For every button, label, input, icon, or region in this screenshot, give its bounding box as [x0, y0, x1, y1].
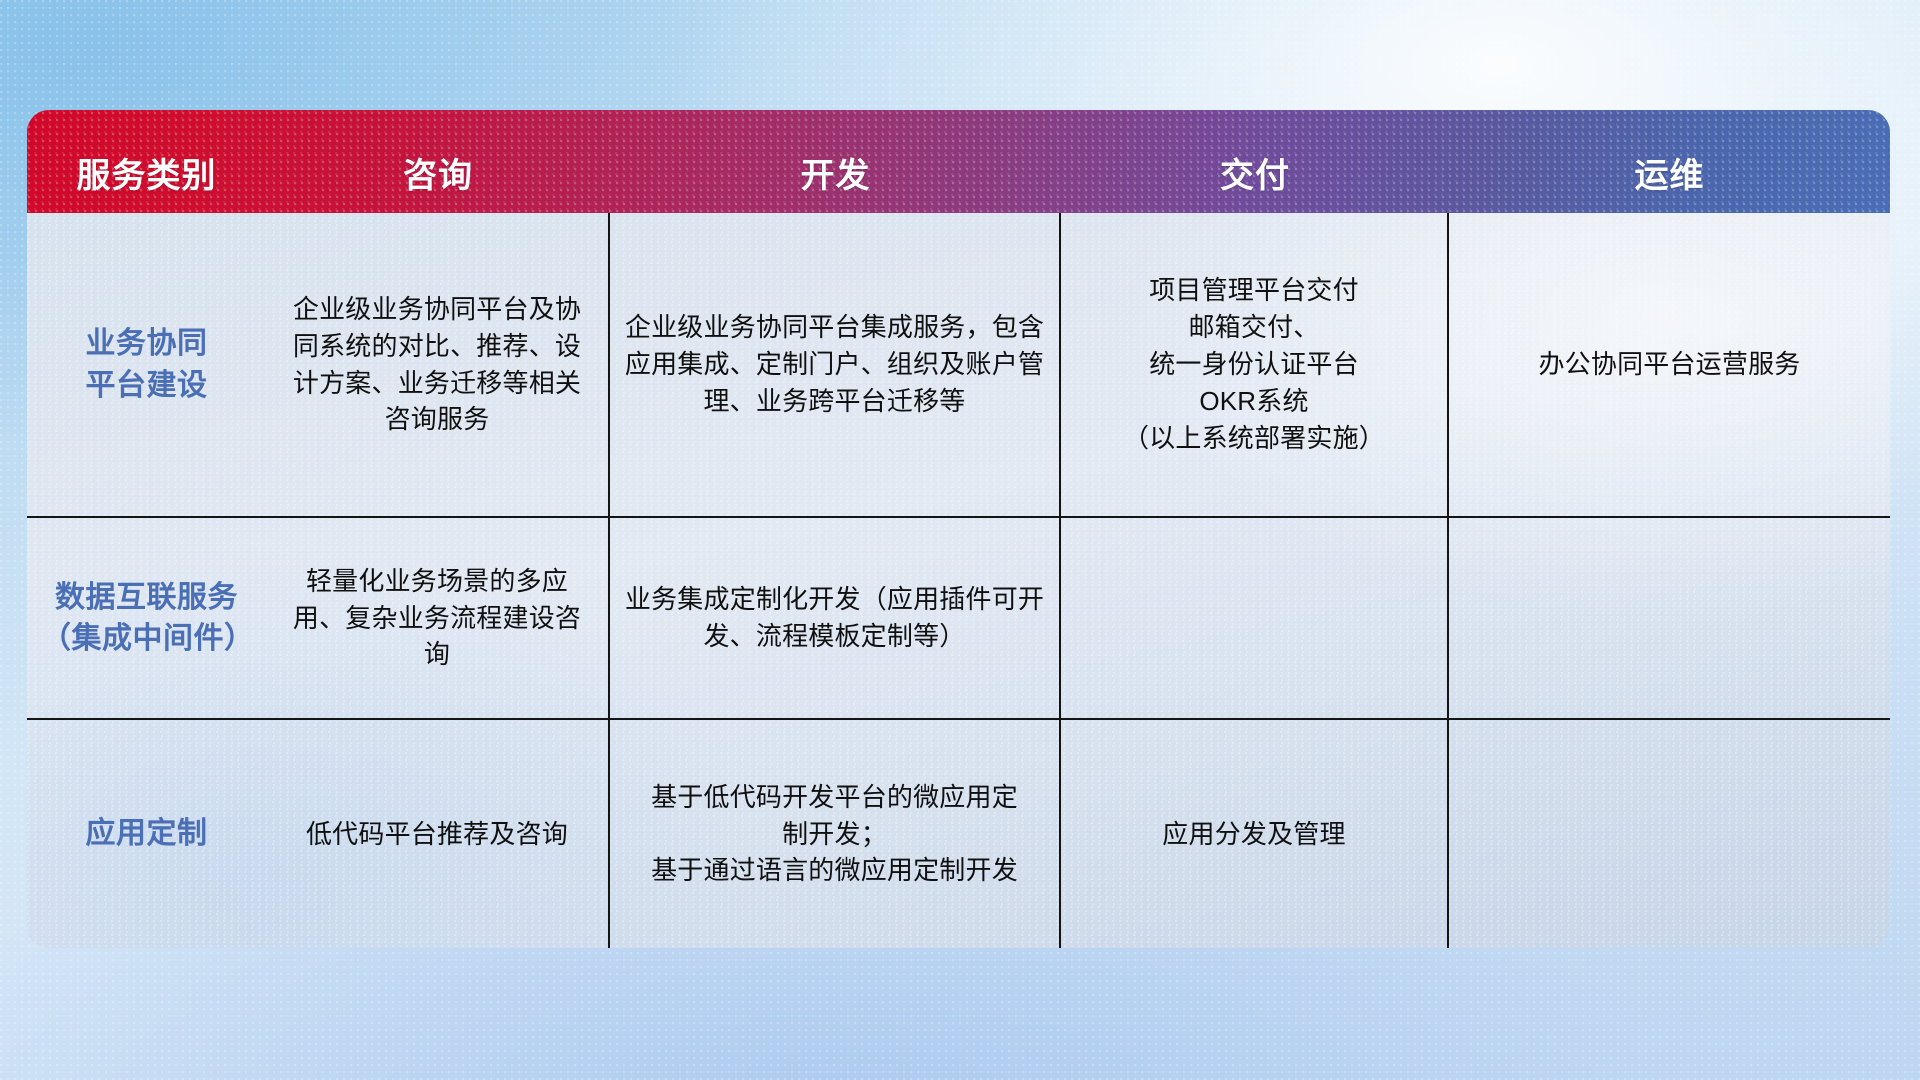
cell-development: 企业级业务协同平台集成服务，包含应用集成、定制门户、组织及账户管理、业务跨平台迁… — [610, 213, 1061, 516]
row-label-text: 数据互联服务 （集成中间件） — [41, 577, 252, 660]
cell-consulting: 轻量化业务场景的多应用、复杂业务流程建设咨询 — [266, 518, 610, 718]
column-header-operations: 运维 — [1449, 159, 1890, 213]
slide-canvas: 服务类别 咨询 开发 交付 运维 业务协同 平台建设 企业级业务协同平台及协同系… — [0, 0, 1920, 1080]
cell-text: 应用分发及管理 — [1162, 816, 1345, 853]
cell-development: 基于低代码开发平台的微应用定 制开发； 基于通过语言的微应用定制开发 — [610, 720, 1061, 948]
cell-delivery: 项目管理平台交付 邮箱交付、 统一身份认证平台 OKR系统 （以上系统部署实施） — [1061, 213, 1449, 516]
cell-consulting: 企业级业务协同平台及协同系统的对比、推荐、设计方案、业务迁移等相关咨询服务 — [266, 213, 610, 516]
cell-delivery — [1061, 518, 1449, 718]
cell-text: 项目管理平台交付 邮箱交付、 统一身份认证平台 OKR系统 （以上系统部署实施） — [1123, 272, 1385, 457]
table-header-row: 服务类别 咨询 开发 交付 运维 — [27, 110, 1890, 213]
column-header-development: 开发 — [610, 159, 1061, 213]
cell-text-line: 项目管理平台交付 — [1123, 272, 1385, 309]
cell-operations: 办公协同平台运营服务 — [1449, 213, 1890, 516]
table-body: 业务协同 平台建设 企业级业务协同平台及协同系统的对比、推荐、设计方案、业务迁移… — [27, 213, 1890, 948]
column-header-consulting: 咨询 — [266, 159, 610, 213]
column-header-delivery: 交付 — [1061, 159, 1449, 213]
cell-text: 轻量化业务场景的多应用、复杂业务流程建设咨询 — [280, 563, 594, 674]
row-label-line: 平台建设 — [86, 365, 208, 406]
table-row: 数据互联服务 （集成中间件） 轻量化业务场景的多应用、复杂业务流程建设咨询 业务… — [27, 518, 1890, 720]
table-row: 应用定制 低代码平台推荐及咨询 基于低代码开发平台的微应用定 制开发； 基于通过… — [27, 720, 1890, 948]
row-label-cell: 业务协同 平台建设 — [27, 213, 266, 516]
row-label-line: 业务协同 — [86, 323, 208, 364]
row-label-line: 应用定制 — [86, 813, 208, 854]
service-matrix-table: 服务类别 咨询 开发 交付 运维 业务协同 平台建设 企业级业务协同平台及协同系… — [27, 110, 1890, 950]
table-row: 业务协同 平台建设 企业级业务协同平台及协同系统的对比、推荐、设计方案、业务迁移… — [27, 213, 1890, 518]
row-label-line: 数据互联服务 — [41, 577, 252, 618]
cell-text: 办公协同平台运营服务 — [1538, 346, 1800, 383]
cell-text-line: 统一身份认证平台 — [1123, 346, 1385, 383]
row-label-cell: 数据互联服务 （集成中间件） — [27, 518, 266, 718]
cell-text: 低代码平台推荐及咨询 — [306, 816, 568, 853]
row-label-text: 应用定制 — [86, 813, 208, 854]
cell-operations — [1449, 720, 1890, 948]
cell-operations — [1449, 518, 1890, 718]
row-label-cell: 应用定制 — [27, 720, 266, 948]
cell-text: 业务集成定制化开发（应用插件可开发、流程模板定制等） — [624, 581, 1045, 655]
cell-text-line: 邮箱交付、 — [1123, 309, 1385, 346]
cell-text-line: OKR系统 — [1123, 383, 1385, 420]
cell-text: 企业级业务协同平台及协同系统的对比、推荐、设计方案、业务迁移等相关咨询服务 — [280, 291, 594, 439]
cell-text: 基于低代码开发平台的微应用定 制开发； 基于通过语言的微应用定制开发 — [651, 779, 1018, 890]
cell-consulting: 低代码平台推荐及咨询 — [266, 720, 610, 948]
cell-text-line: 制开发； — [651, 816, 1018, 853]
cell-development: 业务集成定制化开发（应用插件可开发、流程模板定制等） — [610, 518, 1061, 718]
cell-delivery: 应用分发及管理 — [1061, 720, 1449, 948]
cell-text-line: 基于通过语言的微应用定制开发 — [651, 852, 1018, 889]
row-label-line: （集成中间件） — [41, 618, 252, 659]
row-label-text: 业务协同 平台建设 — [86, 323, 208, 406]
cell-text-line: 基于低代码开发平台的微应用定 — [651, 779, 1018, 816]
column-header-service-category: 服务类别 — [27, 159, 266, 213]
cell-text: 企业级业务协同平台集成服务，包含应用集成、定制门户、组织及账户管理、业务跨平台迁… — [624, 309, 1045, 420]
cell-text-line: （以上系统部署实施） — [1123, 420, 1385, 457]
